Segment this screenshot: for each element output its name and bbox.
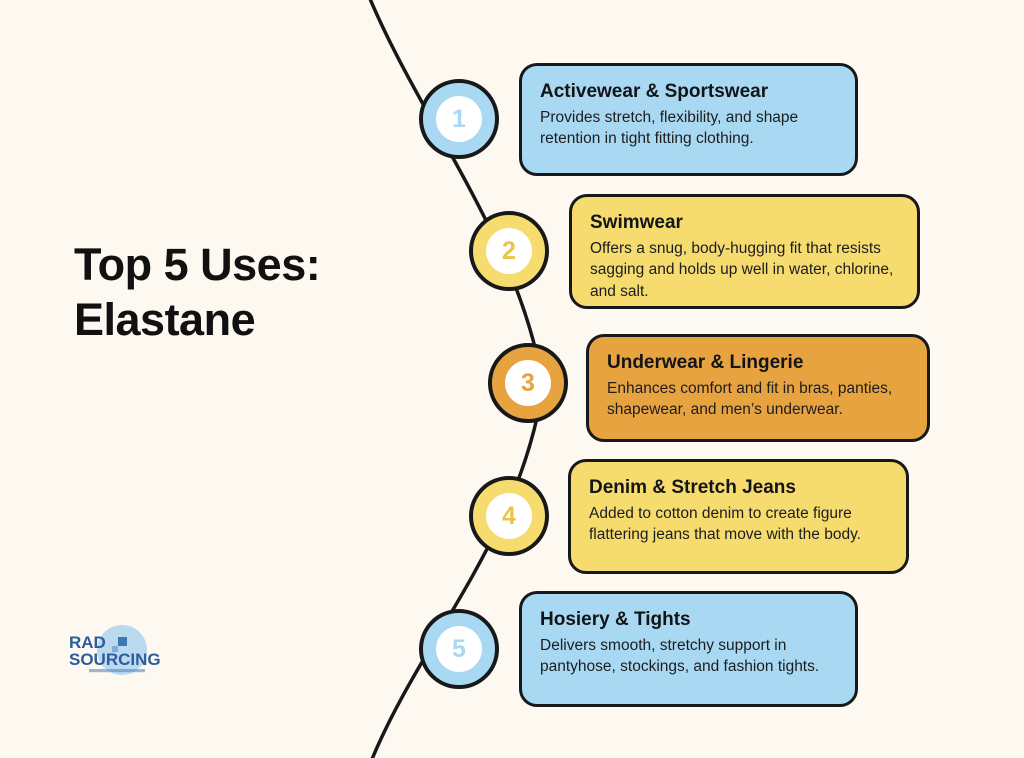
step-marker-5[interactable]: 5 — [419, 609, 499, 689]
step-card-description-4: Added to cotton denim to create figure f… — [589, 503, 888, 546]
logo-tagline-bar — [89, 669, 145, 672]
step-number-badge-4: 4 — [486, 493, 532, 539]
step-card-title-5: Hosiery & Tights — [540, 608, 837, 632]
step-number-1: 1 — [452, 107, 466, 132]
step-card-description-3: Enhances comfort and fit in bras, pantie… — [607, 378, 909, 421]
step-number-badge-2: 2 — [486, 228, 532, 274]
step-card-5[interactable]: Hosiery & Tights Delivers smooth, stretc… — [519, 591, 858, 707]
step-card-description-1: Provides stretch, flexibility, and shape… — [540, 107, 837, 150]
step-number-5: 5 — [452, 637, 466, 662]
step-number-badge-3: 3 — [505, 360, 551, 406]
step-number-3: 3 — [521, 371, 535, 396]
step-marker-1[interactable]: 1 — [419, 79, 499, 159]
step-marker-4[interactable]: 4 — [469, 476, 549, 556]
step-number-2: 2 — [502, 239, 516, 264]
rad-sourcing-logo: RAD SOURCING — [66, 624, 162, 678]
step-card-description-5: Delivers smooth, stretchy support in pan… — [540, 635, 837, 678]
page-title: Top 5 Uses: Elastane — [74, 238, 404, 348]
step-card-title-4: Denim & Stretch Jeans — [589, 476, 888, 500]
step-card-4[interactable]: Denim & Stretch Jeans Added to cotton de… — [568, 459, 909, 574]
logo-square-large — [118, 637, 127, 646]
step-card-title-3: Underwear & Lingerie — [607, 351, 909, 375]
page-title-line-1: Top 5 Uses: — [74, 238, 404, 293]
step-card-title-1: Activewear & Sportswear — [540, 80, 837, 104]
step-card-description-2: Offers a snug, body-hugging fit that res… — [590, 238, 899, 302]
step-marker-3[interactable]: 3 — [488, 343, 568, 423]
infographic-canvas: Top 5 Uses: Elastane RAD SOURCING 1 Acti… — [0, 0, 1024, 758]
step-number-4: 4 — [502, 504, 516, 529]
rad-sourcing-logo-icon: RAD SOURCING — [66, 624, 162, 678]
step-number-badge-5: 5 — [436, 626, 482, 672]
page-title-line-2: Elastane — [74, 293, 404, 348]
step-card-1[interactable]: Activewear & Sportswear Provides stretch… — [519, 63, 858, 176]
step-marker-2[interactable]: 2 — [469, 211, 549, 291]
step-number-badge-1: 1 — [436, 96, 482, 142]
step-card-3[interactable]: Underwear & Lingerie Enhances comfort an… — [586, 334, 930, 442]
step-card-title-2: Swimwear — [590, 211, 899, 235]
step-card-2[interactable]: Swimwear Offers a snug, body-hugging fit… — [569, 194, 920, 309]
logo-text-sourcing: SOURCING — [69, 650, 161, 669]
